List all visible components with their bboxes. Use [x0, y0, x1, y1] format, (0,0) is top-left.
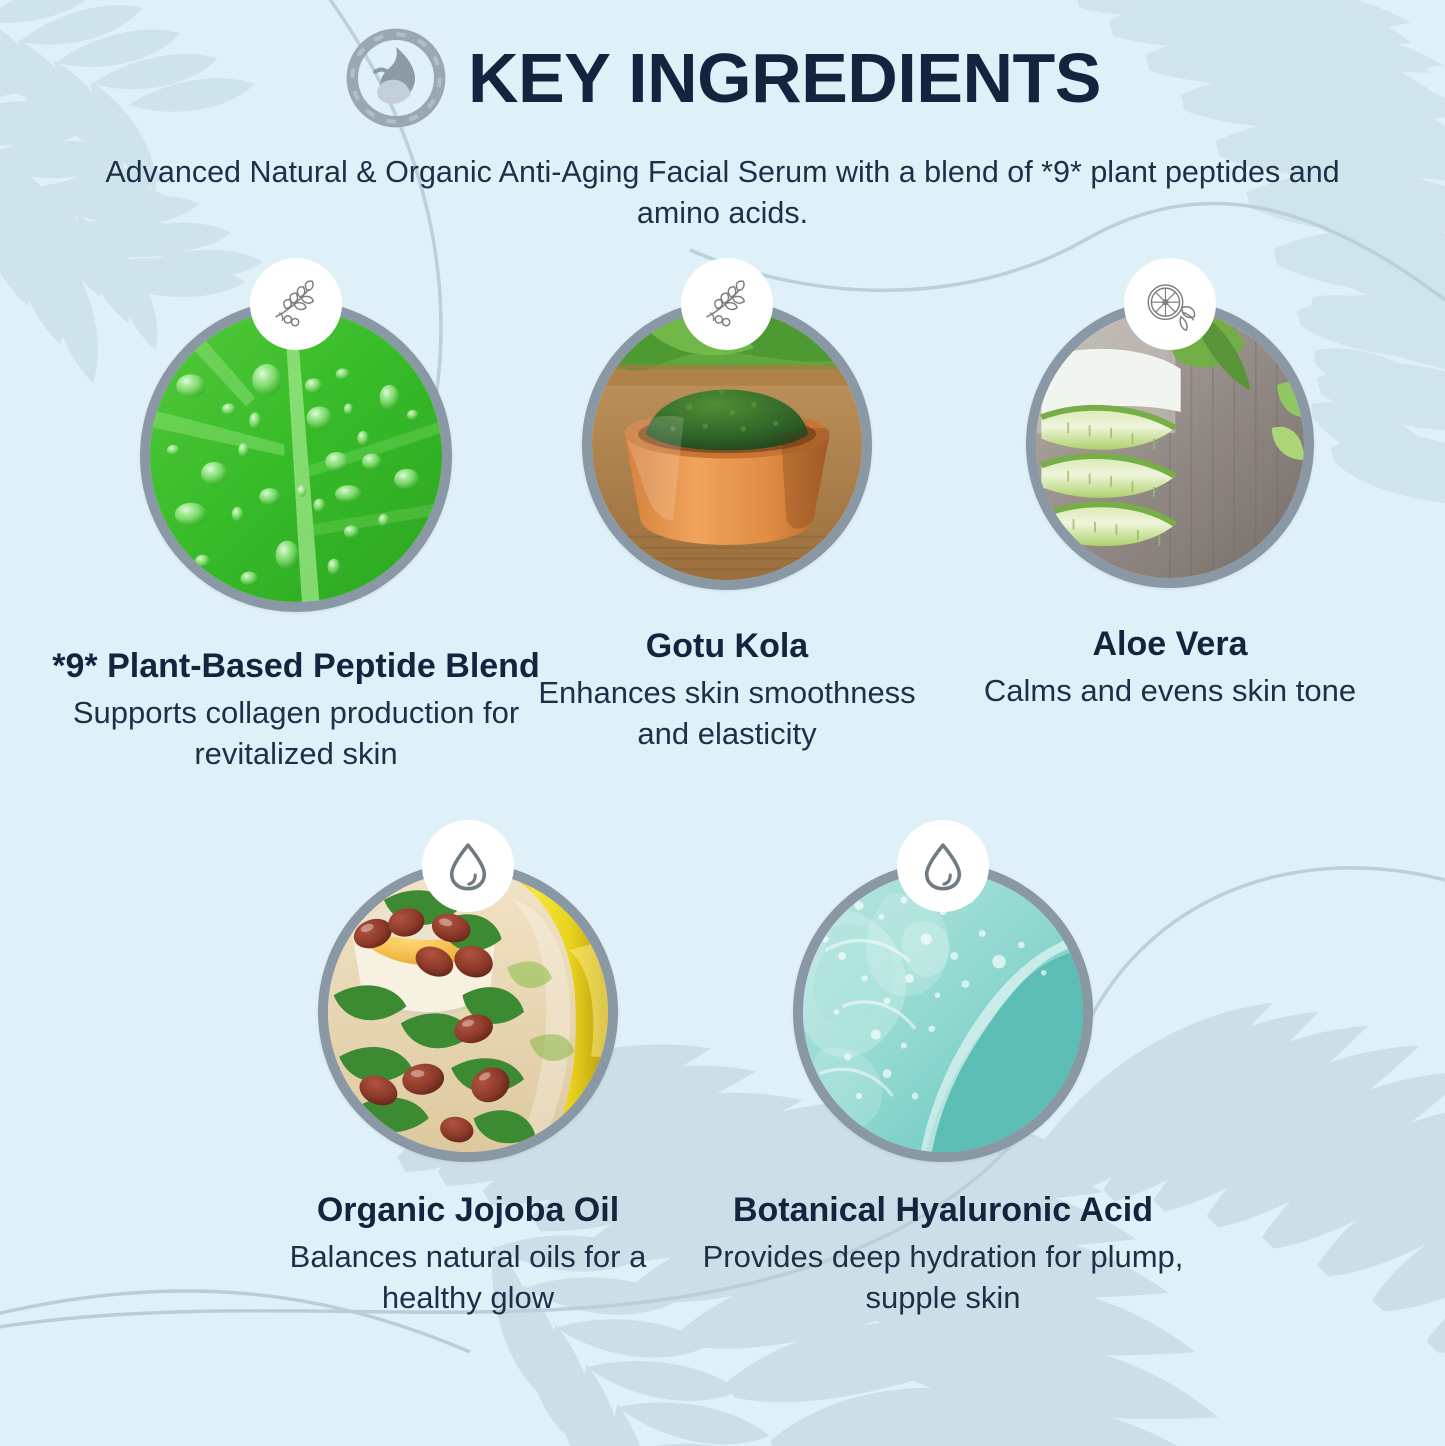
photo-wrapper: [1026, 300, 1314, 588]
header: KEY INGREDIENTS Advanced Natural & Organ…: [0, 0, 1445, 233]
citrus-slice-icon: [1141, 275, 1199, 333]
ingredient-title: Botanical Hyaluronic Acid: [688, 1190, 1198, 1231]
ingredient-description: Provides deep hydration for plump, suppl…: [688, 1237, 1198, 1318]
photo-wrapper: [793, 862, 1093, 1162]
badge-herb-sprig: [681, 258, 773, 350]
photo-wrapper: [140, 300, 452, 612]
ingredient-title: Aloe Vera: [950, 624, 1390, 665]
jojoba-berries-and-oil-photo: [328, 872, 608, 1152]
infographic-page: KEY INGREDIENTS Advanced Natural & Organ…: [0, 0, 1445, 1446]
ingredient-card-aloe: Aloe Vera Calms and evens skin tone: [950, 300, 1390, 712]
brand-leaf-drop-circle-icon: [344, 26, 448, 130]
water-droplet-icon: [439, 837, 497, 895]
ingredient-card-peptide: *9* Plant-Based Peptide Blend Supports c…: [38, 300, 554, 774]
ingredient-description: Calms and evens skin tone: [950, 671, 1390, 711]
ingredient-title: *9* Plant-Based Peptide Blend: [38, 646, 554, 687]
water-droplet-icon: [914, 837, 972, 895]
ingredient-title: Gotu Kola: [512, 626, 942, 667]
ingredient-description: Supports collagen production for revital…: [38, 693, 554, 774]
photo-wrapper: [318, 862, 618, 1162]
badge-herb-sprig: [250, 258, 342, 350]
badge-citrus-slice: [1124, 258, 1216, 350]
ingredient-card-hyaluron: Botanical Hyaluronic Acid Provides deep …: [688, 862, 1198, 1318]
ingredient-description: Enhances skin smoothness and elasticity: [512, 673, 942, 754]
turquoise-gel-texture-photo: [803, 872, 1083, 1152]
photo-wrapper: [582, 300, 872, 590]
badge-water-droplet: [897, 820, 989, 912]
title-row: KEY INGREDIENTS: [0, 0, 1445, 130]
herb-sprig-icon: [698, 275, 756, 333]
green-leaf-with-water-droplets-photo: [150, 310, 442, 602]
green-powder-in-terracotta-bowl-photo: [592, 310, 862, 580]
sliced-aloe-vera-leaf-photo: [1036, 310, 1304, 578]
ingredient-description: Balances natural oils for a healthy glow: [268, 1237, 668, 1318]
page-title: KEY INGREDIENTS: [468, 43, 1101, 113]
ingredient-card-gotukola: Gotu Kola Enhances skin smoothness and e…: [512, 300, 942, 754]
page-subtitle: Advanced Natural & Organic Anti-Aging Fa…: [68, 152, 1378, 233]
ingredient-card-jojoba: Organic Jojoba Oil Balances natural oils…: [268, 862, 668, 1318]
herb-sprig-icon: [267, 275, 325, 333]
badge-water-droplet: [422, 820, 514, 912]
ingredient-title: Organic Jojoba Oil: [268, 1190, 668, 1231]
